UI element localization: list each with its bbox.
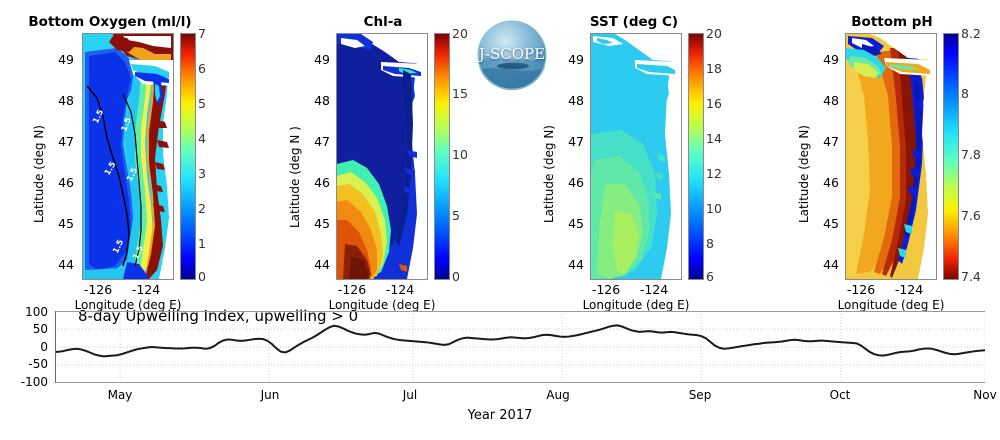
y-tick-label: 48 [300,93,330,108]
chart-left-axis [55,311,56,383]
y-tick-label: 47 [300,134,330,149]
chart-x-tick: Oct [815,388,865,402]
colorbar-tick: 7.8 [961,149,981,162]
colorbar-tick: 6 [198,63,206,76]
map-plot-area: 1.5 1.5 1.5 1.5 1.5 1.5 [82,33,174,280]
chart-x-axis-label: Year 2017 [0,408,1000,423]
x-tick-label: -126 [80,282,116,297]
y-tick-label: 47 [44,134,74,149]
chart-x-tick: May [95,388,145,402]
panel-title: Chl-a [308,14,458,30]
colorbar-tick: 20 [452,28,468,41]
map-plot-area [590,33,682,280]
y-tick-label: 49 [300,52,330,67]
y-tick-label: 48 [554,93,584,108]
x-tick-label: -126 [334,282,370,297]
y-tick-label: 45 [44,216,74,231]
upwelling-index-chart: 8-day Upwelling Index, upwelling > 0 100… [0,296,1000,440]
colorbar-tick: 18 [706,63,722,76]
y-tick-label: 46 [554,175,584,190]
y-tick-label: 49 [809,52,839,67]
panel-title: Bottom Oxygen (ml/l) [20,14,200,30]
chart-x-tick: Jun [245,388,295,402]
ph-map-raster [846,34,936,279]
colorbar-tick: 15 [452,88,468,101]
y-tick-label: 44 [44,257,74,272]
colorbar-tick: 3 [198,168,206,181]
colorbar-tick: 10 [452,149,468,162]
colorbar-tick: 5 [198,98,206,111]
y-tick-label: 48 [809,93,839,108]
colorbar-tick: 2 [198,203,206,216]
colorbar-tick: 12 [706,168,722,181]
panel-sst: SST (deg C) Latitude (deg N) 49 48 47 46… [540,8,740,298]
colorbar-tick: 1 [198,238,206,251]
y-tick-label: 48 [44,93,74,108]
y-tick-label: 46 [44,175,74,190]
x-tick-label: -124 [382,282,418,297]
colorbar-tick: 20 [706,28,722,41]
j-scope-logo: J-SCOPE [477,20,547,90]
colorbar-tick: 7.6 [961,210,981,223]
colorbar-tick: 10 [706,203,722,216]
chart-bottom-axis [55,382,985,383]
colorbar-tick: 8 [706,238,714,251]
panel-title: SST (deg C) [554,14,714,30]
upwelling-index-line [55,325,985,356]
y-tick-label: 47 [554,134,584,149]
colorbar-gradient [181,34,195,279]
y-tick-label: 44 [554,257,584,272]
colorbar-bottom-oxygen [180,33,196,280]
y-tick-label: 45 [809,216,839,231]
chart-x-tick: Sep [675,388,725,402]
y-tick-label: 45 [554,216,584,231]
y-tick-label: 45 [300,216,330,231]
x-tick-label: -126 [588,282,624,297]
y-tick-label: 49 [554,52,584,67]
panel-bottom-ph: Bottom pH Latitude (deg N) 49 48 47 46 4… [795,8,1000,298]
chart-top-axis [55,311,985,312]
colorbar-tick: 6 [706,271,714,284]
colorbar-tick: 16 [706,98,722,111]
chart-y-tick: -100 [0,375,48,389]
colorbar-gradient [435,34,449,279]
colorbar-gradient [944,34,958,279]
colorbar-tick: 0 [198,271,206,284]
chart-y-tick: -50 [0,357,48,371]
colorbar-tick: 5 [452,210,460,223]
map-plot-area [845,33,937,280]
x-tick-label: -124 [128,282,164,297]
panel-title: Bottom pH [817,14,967,30]
logo-text: J-SCOPE [477,45,547,63]
y-tick-label: 49 [44,52,74,67]
oxygen-map-raster [83,34,173,279]
chart-x-tick: Nov [960,388,1000,402]
chart-x-tick: Aug [533,388,583,402]
colorbar-sst [688,33,704,280]
y-tick-label: 44 [809,257,839,272]
map-plot-area [336,33,428,280]
colorbar-tick: 14 [706,133,722,146]
x-tick-label: -126 [843,282,879,297]
colorbar-tick: 4 [198,133,206,146]
y-tick-label: 46 [300,175,330,190]
chart-x-tick: Jul [385,388,435,402]
colorbar-bottom-ph [943,33,959,280]
x-tick-label: -124 [636,282,672,297]
y-tick-label: 46 [809,175,839,190]
chart-y-tick: 50 [0,322,48,336]
colorbar-gradient [689,34,703,279]
colorbar-tick: 0 [452,271,460,284]
sst-map-raster [591,34,681,279]
panel-bottom-oxygen: Bottom Oxygen (ml/l) Latitude (deg N) 49… [24,8,234,298]
chart-y-tick: 0 [0,340,48,354]
chla-map-raster [337,34,427,279]
y-tick-label: 44 [300,257,330,272]
y-tick-label: 47 [809,134,839,149]
colorbar-tick: 7.4 [961,271,981,284]
colorbar-tick: 7 [198,28,206,41]
x-tick-label: -124 [891,282,927,297]
panel-chl-a: Chl-a Latitude (deg N ) 49 48 47 46 45 4… [286,8,476,298]
chart-y-tick: 100 [0,305,48,319]
colorbar-tick: 8 [961,88,969,101]
colorbar-tick: 8.2 [961,28,981,41]
chart-plot-area [55,311,985,383]
colorbar-chl-a [434,33,450,280]
